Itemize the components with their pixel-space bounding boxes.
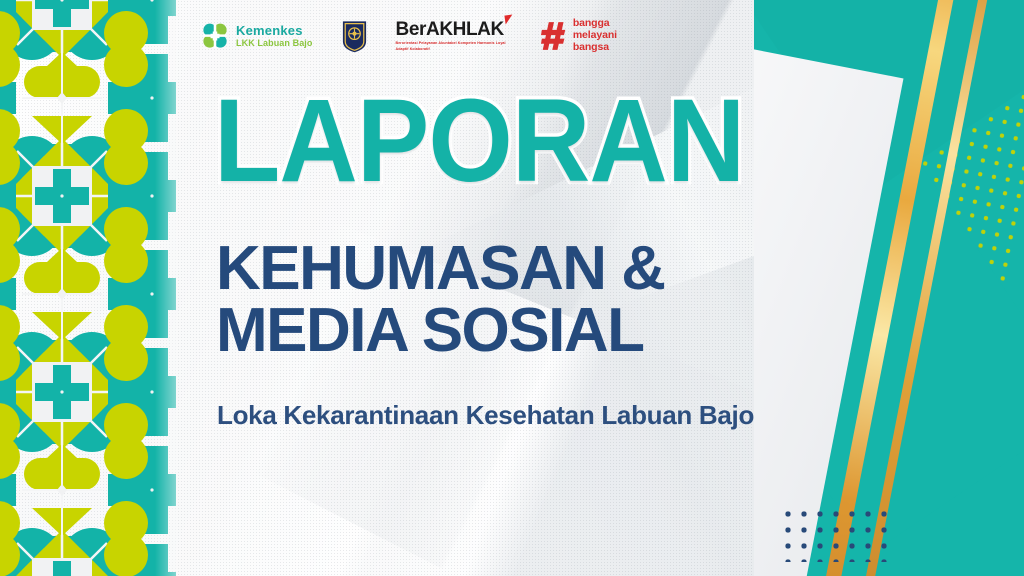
batik-tile (0, 490, 176, 576)
bangga-line3: bangsa (573, 42, 617, 54)
berakhlak-checkmark-icon (504, 15, 513, 25)
kemenkes-clover-icon (200, 21, 230, 51)
kemenkes-label-primary: Kemenkes (236, 24, 313, 37)
kemenkes-logo: Kemenkes LKK Labuan Bajo (200, 21, 313, 51)
subtitle-line-2: MEDIA SOSIAL (216, 300, 644, 362)
hashtag-icon (541, 21, 567, 51)
batik-tile (0, 0, 176, 98)
navy-dot-grid (780, 506, 892, 562)
bangga-melayani-bangsa-logo: bangga melayani bangsa (541, 18, 617, 53)
subtitle-line-1: KEHUMASAN & (216, 238, 665, 300)
organization-name: Loka Kekarantinaan Kesehatan Labuan Bajo (217, 400, 754, 431)
title-slide: Kemenkes LKK Labuan Bajo BerAKHLAK Beror… (0, 0, 1024, 576)
kemenkes-label-secondary: LKK Labuan Bajo (236, 39, 313, 48)
berakhlak-wordmark: BerAKHLAK (396, 20, 513, 39)
page-title: LAPORAN (214, 82, 744, 200)
berakhlak-prefix: Ber (396, 19, 426, 40)
left-batik-pattern (0, 0, 176, 576)
government-emblem-logo (341, 19, 368, 53)
right-decorative-art (754, 0, 1024, 576)
batik-tile (0, 98, 176, 294)
berakhlak-tagline: Berorientasi Pelayanan Akuntabel Kompete… (396, 41, 508, 52)
berakhlak-logo: BerAKHLAK Berorientasi Pelayanan Akuntab… (396, 20, 513, 52)
logo-row: Kemenkes LKK Labuan Bajo BerAKHLAK Beror… (200, 12, 617, 60)
berakhlak-main: AKHLAK (426, 19, 504, 40)
government-emblem-shield-icon (341, 19, 368, 53)
batik-tile (0, 294, 176, 490)
